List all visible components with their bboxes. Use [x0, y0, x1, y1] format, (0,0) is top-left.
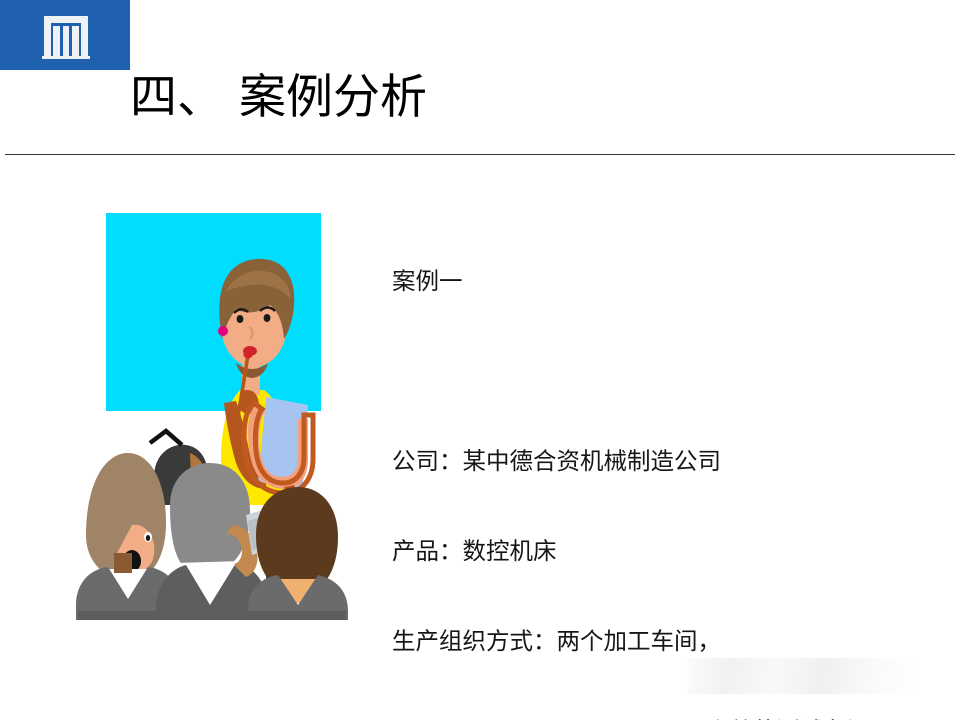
- body-line-assembly-workshop: 一个总装测试车间: [392, 716, 952, 720]
- slide-canvas: 四、 案例分析: [0, 0, 960, 720]
- page-title: 四、 案例分析: [130, 68, 830, 130]
- meeting-presentation-illustration: [70, 205, 360, 620]
- slide-body-text: 案例一 公司：某中德合资机械制造公司 产品：数控机床 生产组织方式：两个加工车间…: [392, 206, 952, 720]
- logo-block: [0, 0, 130, 70]
- watermark: [688, 658, 918, 694]
- title-divider: [5, 154, 955, 155]
- illustration-svg: [70, 205, 360, 620]
- gate-archway-logo-icon: [40, 10, 92, 62]
- body-spacer: [392, 356, 952, 386]
- body-line-company: 公司：某中德合资机械制造公司: [392, 446, 952, 476]
- body-line-product: 产品：数控机床: [392, 536, 952, 566]
- body-line-production-mode: 生产组织方式：两个加工车间，: [392, 626, 952, 656]
- body-heading: 案例一: [392, 266, 952, 296]
